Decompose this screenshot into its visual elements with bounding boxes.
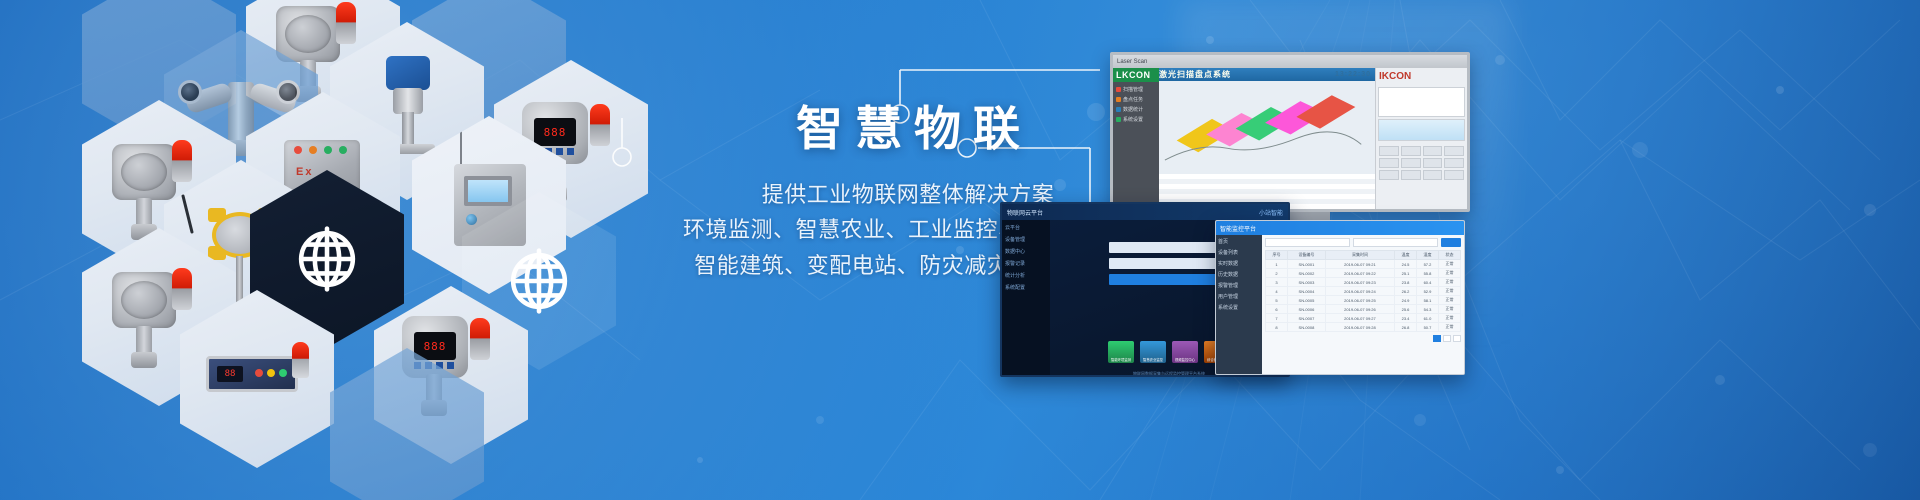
data-table-side-item[interactable]: 系统设置 <box>1218 304 1260 311</box>
data-table-filter-bar[interactable] <box>1265 238 1461 247</box>
dashboard-tile[interactable]: 视频监控中心 <box>1172 341 1198 363</box>
table-row[interactable]: 5SN-00052019-06-07 09:2524.958.1正常 <box>1266 296 1461 305</box>
data-table[interactable]: 序号 设备编号 采集时间 温度 湿度 状态 1SN-00012019-06-07… <box>1265 250 1461 332</box>
laser-scan-right-panel[interactable]: IKCON <box>1375 68 1467 212</box>
software-screenshots: Laser Scan LKCON 扫描管理 盘点任务 数据统计 系统设置 激光扫… <box>1000 52 1920 382</box>
led-digits: 888 <box>424 340 447 353</box>
search-input[interactable] <box>1265 238 1350 247</box>
dark-dashboard-subtitle: 小站智能 <box>1259 208 1283 217</box>
hexagon-product-grid: 888 <box>0 0 640 500</box>
dark-dashboard-side-item[interactable]: 设备管理 <box>1005 236 1047 243</box>
laser-scan-vendor-logo: LKCON <box>1113 68 1159 82</box>
table-row[interactable]: 4SN-00042019-06-07 09:2426.252.9正常 <box>1266 287 1461 296</box>
laser-scan-time: 13:22:30 <box>1335 71 1375 78</box>
laser-scan-toolbar-grid[interactable] <box>1376 143 1467 183</box>
login-button[interactable] <box>1109 274 1229 285</box>
laser-scan-sidebar[interactable]: LKCON 扫描管理 盘点任务 数据统计 系统设置 <box>1113 68 1159 212</box>
table-row[interactable]: 1SN-00012019-06-07 09:2124.557.2正常 <box>1266 260 1461 269</box>
dashboard-tile[interactable]: 智慧农业监控 <box>1140 341 1166 363</box>
laser-scan-header: 激光扫描盘点系统 13:22:30 <box>1159 68 1375 81</box>
page-button[interactable] <box>1443 335 1451 342</box>
table-header-row: 序号 设备编号 采集时间 温度 湿度 状态 <box>1266 251 1461 260</box>
screen-laser-scan[interactable]: Laser Scan LKCON 扫描管理 盘点任务 数据统计 系统设置 激光扫… <box>1110 52 1470 212</box>
laser-scan-titlebar: Laser Scan <box>1113 55 1467 68</box>
page-button[interactable] <box>1453 335 1461 342</box>
banner-root: 888 <box>0 0 1920 500</box>
dark-dashboard-side-item[interactable]: 数据中心 <box>1005 248 1047 255</box>
table-row[interactable]: 6SN-00062019-06-07 09:2625.654.3正常 <box>1266 305 1461 314</box>
cabinet-ex-mark: Ex <box>296 166 313 178</box>
table-body: 1SN-00012019-06-07 09:2124.557.2正常 2SN-0… <box>1266 260 1461 332</box>
data-table-side-item[interactable]: 报警管理 <box>1218 282 1260 289</box>
dark-dashboard-side-item[interactable]: 系统配置 <box>1005 284 1047 291</box>
led-digits: 888 <box>544 126 567 139</box>
data-table-side-item[interactable]: 用户管理 <box>1218 293 1260 300</box>
table-row[interactable]: 2SN-00022019-06-07 09:2225.155.8正常 <box>1266 269 1461 278</box>
dark-dashboard-window-title: 物联网云平台 <box>1007 208 1043 217</box>
screen-data-table[interactable]: 智能监控平台 首页 设备列表 实时数据 历史数据 报警管理 用户管理 系统设置 <box>1215 220 1465 375</box>
globe-icon <box>501 243 577 319</box>
data-table-main: 序号 设备编号 采集时间 温度 湿度 状态 1SN-00012019-06-07… <box>1262 235 1464 375</box>
dark-dashboard-side-item[interactable]: 统计分析 <box>1005 272 1047 279</box>
username-field[interactable] <box>1109 242 1229 253</box>
data-table-window-title: 智能监控平台 <box>1220 224 1256 233</box>
dark-dashboard-side-item[interactable]: 报警记录 <box>1005 260 1047 267</box>
date-input[interactable] <box>1353 238 1438 247</box>
laser-scan-side-item[interactable]: 系统设置 <box>1116 116 1156 123</box>
dark-dashboard-sidebar[interactable]: 云平台 设备管理 数据中心 报警记录 统计分析 系统配置 <box>1002 220 1050 377</box>
login-form[interactable] <box>1109 242 1229 285</box>
laser-scan-side-item[interactable]: 扫描管理 <box>1116 86 1156 93</box>
dashboard-tiles[interactable]: 智能环境监测 智慧农业监控 视频监控中心 综合管廊管理 <box>1108 341 1230 363</box>
dark-dashboard-side-item[interactable]: 云平台 <box>1005 224 1047 231</box>
page-button[interactable] <box>1433 335 1441 342</box>
laser-scan-canvas[interactable] <box>1159 81 1375 174</box>
laser-scan-side-item[interactable]: 数据统计 <box>1116 106 1156 113</box>
data-table-titlebar: 智能监控平台 <box>1216 221 1464 235</box>
data-table-sidebar[interactable]: 首页 设备列表 实时数据 历史数据 报警管理 用户管理 系统设置 <box>1216 235 1262 375</box>
table-row[interactable]: 8SN-00082019-06-07 09:2826.850.7正常 <box>1266 323 1461 332</box>
data-table-side-item[interactable]: 实时数据 <box>1218 260 1260 267</box>
dark-dashboard-titlebar: 物联网云平台 小站智能 <box>1002 204 1288 220</box>
data-table-side-item[interactable]: 设备列表 <box>1218 249 1260 256</box>
table-row[interactable]: 3SN-00032019-06-07 09:2323.860.4正常 <box>1266 278 1461 287</box>
table-row[interactable]: 7SN-00072019-06-07 09:2723.461.0正常 <box>1266 314 1461 323</box>
laser-scan-window-title: Laser Scan <box>1117 59 1147 65</box>
password-field[interactable] <box>1109 258 1229 269</box>
laser-scan-side-item[interactable]: 盘点任务 <box>1116 96 1156 103</box>
laser-scan-brand: IKCON <box>1376 68 1467 85</box>
data-table-side-item[interactable]: 历史数据 <box>1218 271 1260 278</box>
globe-icon <box>289 221 365 297</box>
search-button[interactable] <box>1441 238 1461 247</box>
pagination[interactable] <box>1265 335 1461 342</box>
dashboard-tile[interactable]: 智能环境监测 <box>1108 341 1134 363</box>
data-table-side-item[interactable]: 首页 <box>1218 238 1260 245</box>
